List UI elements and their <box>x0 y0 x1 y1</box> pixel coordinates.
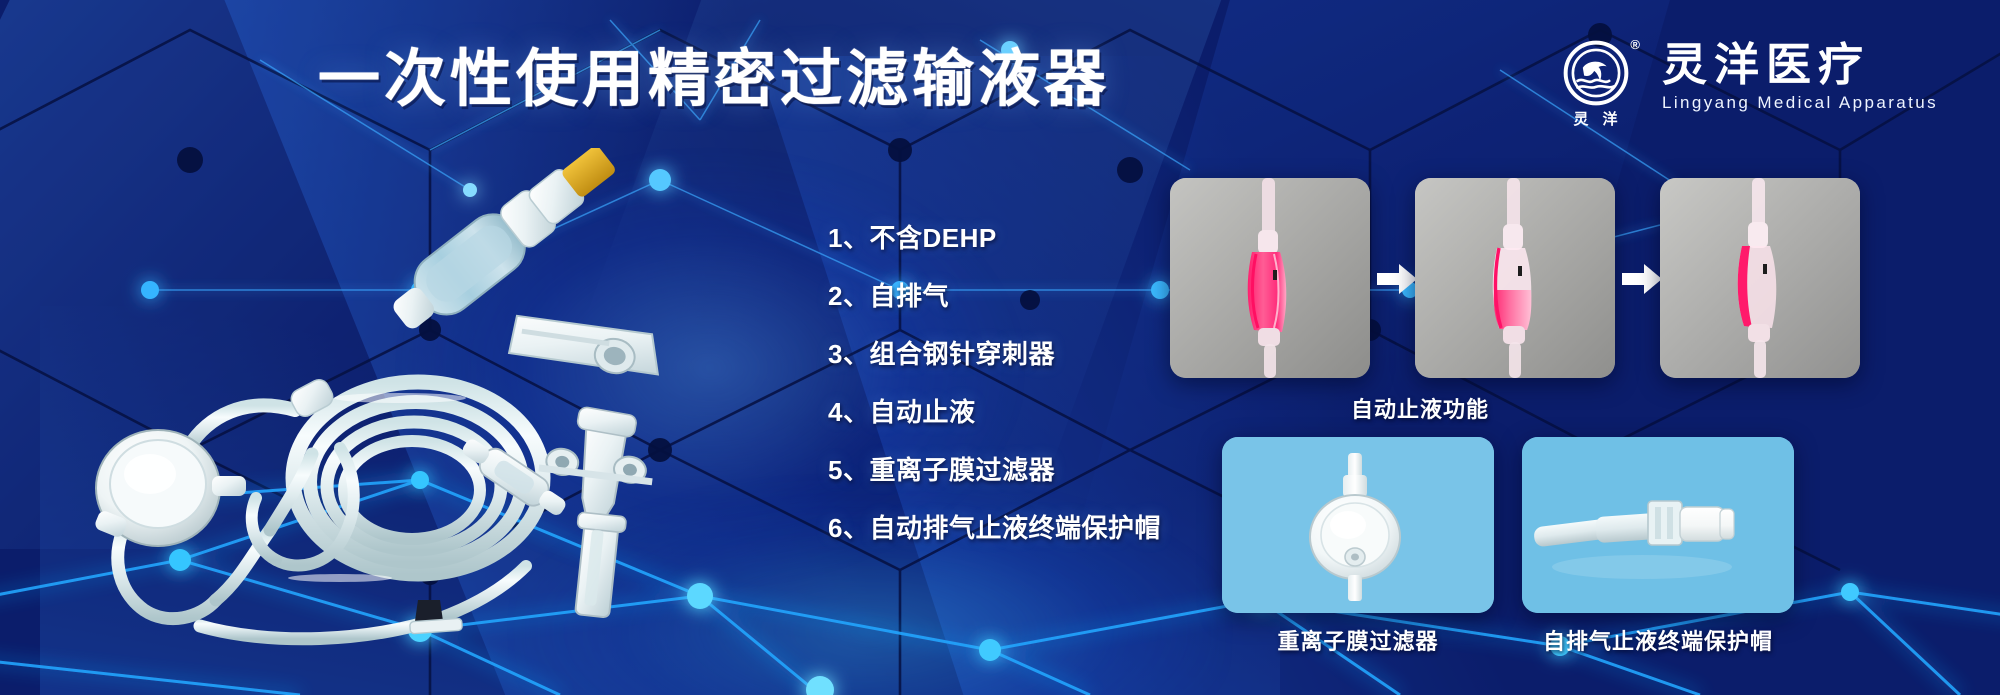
auto-stop-step-1 <box>1170 178 1370 378</box>
feature-item-3: 3、组合钢针穿刺器 <box>828 334 1161 371</box>
emblem-characters: 灵 洋 <box>1573 108 1618 129</box>
feature-item-4: 4、自动止液 <box>828 392 1161 429</box>
page-title: 一次性使用精密过滤输液器 <box>318 48 1110 111</box>
brand-name-cn: 灵洋医疗 <box>1662 40 1938 90</box>
logo-wordmark: 灵洋医疗 Lingyang Medical Apparatus <box>1662 40 1938 113</box>
feature-item-6: 6、自动排气止液终端保护帽 <box>828 508 1161 545</box>
brand-name-en: Lingyang Medical Apparatus <box>1662 93 1938 113</box>
emblem-char-2: 洋 <box>1603 108 1619 129</box>
feature-item-5: 5、重离子膜过滤器 <box>828 450 1161 487</box>
auto-vent-stop-terminal-cap <box>1522 437 1794 613</box>
detail-caption-1: 重离子膜过滤器 <box>1277 624 1438 656</box>
feature-list: 1、不含DEHP 2、自排气 3、组合钢针穿刺器 4、自动止液 5、重离子膜过滤… <box>828 218 1161 545</box>
brand-logo[interactable]: ® 灵 洋 灵洋医疗 Lingyang Medical Apparatus <box>1552 40 1938 129</box>
detail-caption-2: 自排气止液终端保护帽 <box>1543 624 1773 656</box>
auto-stop-step-2 <box>1415 178 1615 378</box>
luer-connector-cap-icon <box>1522 437 1794 613</box>
feature-item-2: 2、自排气 <box>828 276 1161 313</box>
roller-clamp <box>509 306 666 384</box>
emblem-char-1: 灵 <box>1573 108 1589 129</box>
right-arrow-icon <box>1375 262 1419 296</box>
product-banner: 一次性使用精密过滤输液器 ® 灵 洋 灵洋医疗 Lingya <box>0 0 2000 695</box>
round-filter-icon <box>1222 437 1494 613</box>
heavy-ion-membrane-filter <box>1222 437 1494 613</box>
feature-item-1: 1、不含DEHP <box>828 218 1161 255</box>
registered-trademark-icon: ® <box>1630 37 1640 52</box>
right-arrow-icon <box>1620 262 1664 296</box>
needle-protective-sheath <box>568 512 626 618</box>
auto-stop-step-3 <box>1660 178 1860 378</box>
lingyang-wave-circle-emblem: ® <box>1563 40 1629 106</box>
infusion-set-photo <box>40 148 780 668</box>
sequence-caption: 自动止液功能 <box>1351 392 1489 424</box>
logo-emblem-group: ® 灵 洋 <box>1552 40 1640 129</box>
round-filter-disc <box>93 430 246 546</box>
